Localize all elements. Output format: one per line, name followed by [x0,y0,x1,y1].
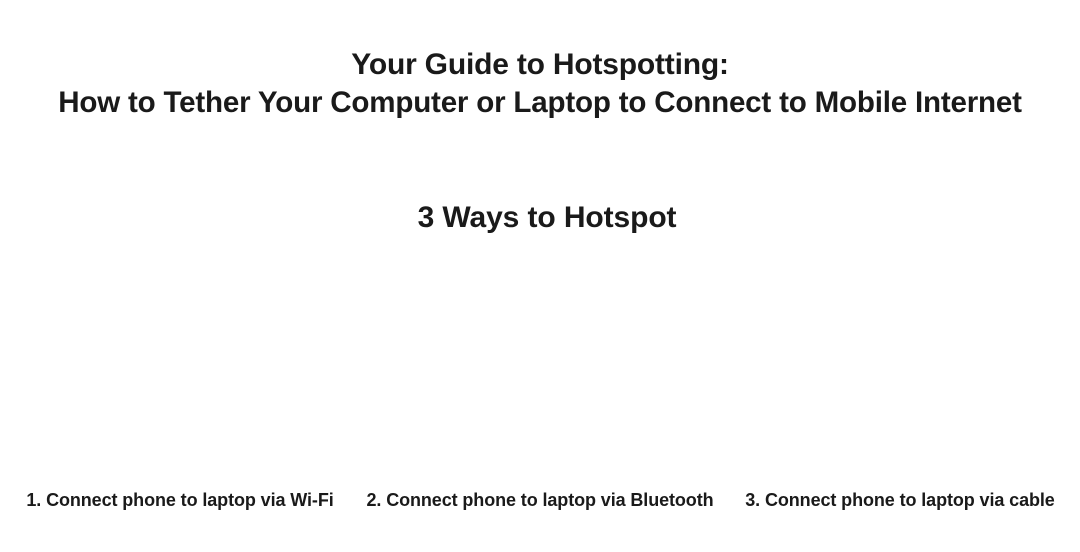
page-title: Your Guide to Hotspotting: How to Tether… [0,46,1080,122]
method-caption-bluetooth: 2. Connect phone to laptop via Bluetooth [360,488,720,512]
illustration-slot-cable [720,262,1080,462]
illustration-row [0,262,1080,462]
illustration-slot-bluetooth [360,262,720,462]
section-heading: 3 Ways to Hotspot [0,200,1080,236]
illustration-slot-wifi [0,262,360,462]
method-caption-wifi: 1. Connect phone to laptop via Wi-Fi [0,488,360,512]
caption-row: 1. Connect phone to laptop via Wi-Fi 2. … [0,488,1080,512]
infographic-page: Your Guide to Hotspotting: How to Tether… [0,0,1080,552]
method-caption-cable: 3. Connect phone to laptop via cable [720,488,1080,512]
page-title-line-1: Your Guide to Hotspotting: [40,46,1040,84]
page-title-line-2: How to Tether Your Computer or Laptop to… [48,84,1033,122]
